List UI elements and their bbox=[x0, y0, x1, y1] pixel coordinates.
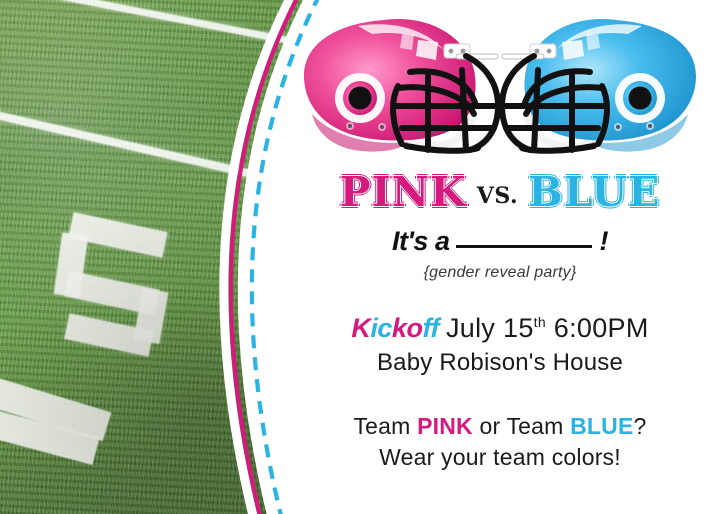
kickoff-letter: c bbox=[377, 313, 392, 343]
football-field-photo bbox=[0, 0, 330, 514]
title-blue: BLUE bbox=[528, 172, 660, 213]
its-a-suffix: ! bbox=[599, 226, 608, 257]
title-vs: VS. bbox=[477, 183, 518, 209]
kickoff-letter: k bbox=[392, 313, 407, 343]
date-ordinal: th bbox=[534, 314, 546, 330]
title-pink: PINK bbox=[340, 172, 467, 213]
blue-helmet bbox=[502, 19, 696, 152]
kickoff-letter: K bbox=[351, 313, 370, 343]
teams-prompt-blue: BLUE bbox=[570, 413, 633, 439]
kickoff-letter: o bbox=[406, 313, 422, 343]
event-time: 6:00PM bbox=[554, 313, 649, 343]
its-a-prefix: It's a bbox=[392, 226, 449, 257]
field-number-marking bbox=[52, 218, 172, 346]
yard-line bbox=[0, 97, 330, 211]
kickoff-line: Kickoff July 15th 6:00PM bbox=[300, 313, 700, 344]
teams-prompt-suffix: ? bbox=[634, 413, 647, 439]
invitation-card: PINK VS. BLUE It's a ! {gender reveal pa… bbox=[0, 0, 720, 514]
teams-prompt-prefix: Team bbox=[353, 413, 417, 439]
event-venue: Baby Robison's House bbox=[300, 349, 700, 377]
teams-prompt-middle: or Team bbox=[473, 413, 570, 439]
yard-line bbox=[0, 0, 330, 65]
wear-colors-line: Wear your team colors! bbox=[300, 444, 700, 471]
invitation-text-block: PINK VS. BLUE It's a ! {gender reveal pa… bbox=[300, 168, 700, 471]
title-row: PINK VS. BLUE bbox=[300, 168, 700, 216]
event-date: July 15 bbox=[446, 313, 534, 343]
subtitle: {gender reveal party} bbox=[300, 264, 700, 282]
field-arrow-marking bbox=[0, 382, 124, 460]
pink-helmet bbox=[304, 19, 498, 152]
its-a-line: It's a ! bbox=[300, 226, 700, 257]
fill-in-blank bbox=[456, 245, 592, 248]
helmets-graphic bbox=[292, 6, 708, 176]
grass-texture bbox=[0, 0, 330, 514]
teams-prompt-line: Team PINK or Team BLUE? bbox=[300, 413, 700, 440]
kickoff-word: Kickoff bbox=[351, 313, 446, 343]
kickoff-letter: f bbox=[430, 313, 439, 343]
teams-prompt-pink: PINK bbox=[417, 413, 473, 439]
